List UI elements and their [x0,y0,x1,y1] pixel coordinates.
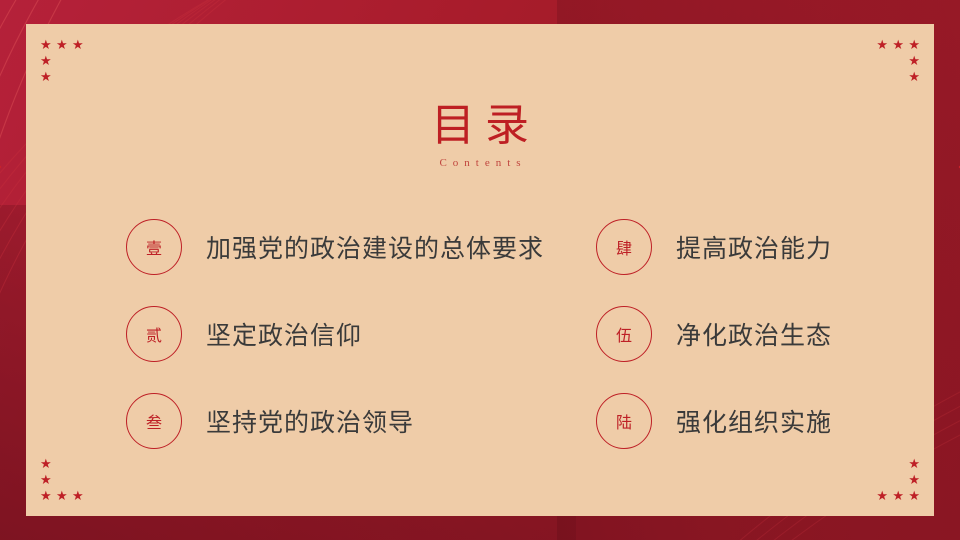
star-icon: ★ [40,473,52,486]
toc-item-3[interactable]: 叁 坚持党的政治领导 [126,377,596,464]
title-block: 目录 Contents [380,103,580,169]
slide-header: 目录 Contents [26,86,934,186]
toc-number-badge: 壹 [126,219,182,275]
page-title: 目录 [421,103,539,149]
toc-item-label: 净化政治生态 [676,316,832,352]
star-icon: ★ [908,473,920,486]
star-icon: ★ [876,38,888,51]
star-icon: ★ [908,54,920,67]
wheat-branch-left-icon [0,93,6,179]
star-icon: ★ [40,457,52,470]
toc-item-2[interactable]: 贰 坚定政治信仰 [126,291,596,378]
star-icon: ★ [908,38,920,51]
star-icon: ★ [72,38,84,51]
toc-item-4[interactable]: 肆 提高政治能力 [596,204,874,291]
star-icon: ★ [56,489,68,502]
corner-stars-bottom-left: ★ ★ ★ ★ ★ [40,452,100,502]
star-icon: ★ [876,489,888,502]
star-icon: ★ [908,70,920,83]
slide-root: ★ ★ ★ ★ ★ ★ ★ ★ ★ ★ ★ ★ ★ ★ ★ ★ ★ ★ ★ ★ [0,0,960,540]
content-panel: ★ ★ ★ ★ ★ ★ ★ ★ ★ ★ ★ ★ ★ ★ ★ ★ ★ ★ ★ ★ [26,24,934,516]
star-icon: ★ [56,38,68,51]
star-icon: ★ [72,489,84,502]
page-subtitle: Contents [433,157,526,169]
corner-stars-top-left: ★ ★ ★ ★ ★ [40,38,100,88]
toc-item-1[interactable]: 壹 加强党的政治建设的总体要求 [126,204,596,291]
star-icon: ★ [40,38,52,51]
toc-item-label: 提高政治能力 [676,229,832,265]
star-icon: ★ [908,457,920,470]
star-icon: ★ [40,70,52,83]
star-icon: ★ [892,38,904,51]
star-icon: ★ [40,489,52,502]
toc-item-label: 坚持党的政治领导 [206,403,414,439]
wheat-branch-right-icon [954,93,960,179]
star-icon: ★ [908,489,920,502]
toc-number-badge: 肆 [596,219,652,275]
toc-number-badge: 伍 [596,306,652,362]
star-icon: ★ [40,54,52,67]
toc-item-6[interactable]: 陆 强化组织实施 [596,377,874,464]
table-of-contents: 壹 加强党的政治建设的总体要求 肆 提高政治能力 贰 坚定政治信仰 伍 净化政治… [126,204,874,464]
toc-item-label: 坚定政治信仰 [206,316,362,352]
toc-item-5[interactable]: 伍 净化政治生态 [596,291,874,378]
toc-number-badge: 陆 [596,393,652,449]
toc-number-badge: 贰 [126,306,182,362]
toc-item-label: 强化组织实施 [676,403,832,439]
star-icon: ★ [892,489,904,502]
toc-item-label: 加强党的政治建设的总体要求 [206,229,544,265]
corner-stars-top-right: ★ ★ ★ ★ ★ [860,38,920,88]
toc-number-badge: 叁 [126,393,182,449]
